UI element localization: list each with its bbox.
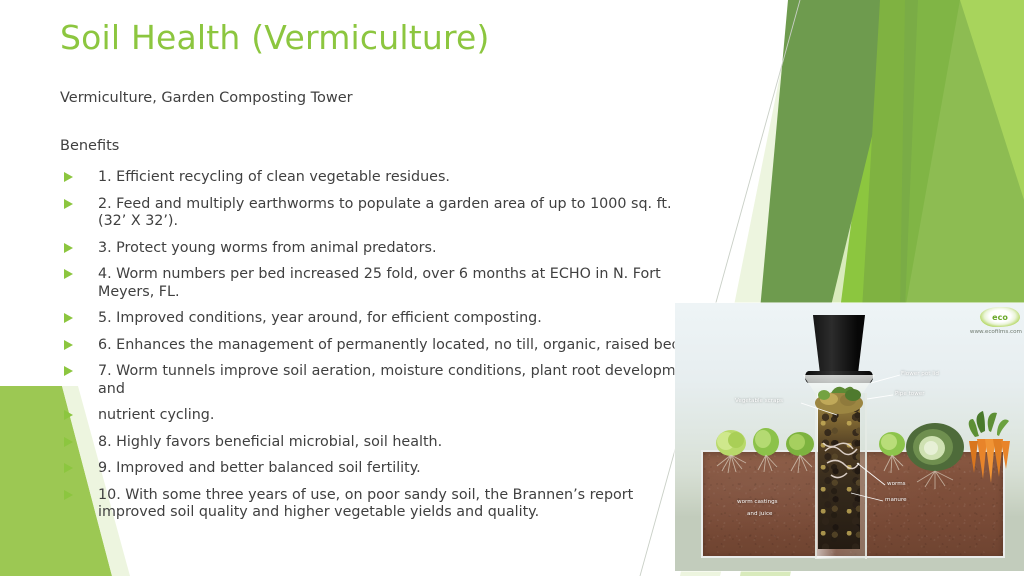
triangle-bullet-icon — [64, 340, 73, 350]
label-flower-pot-lid: Flower pot lid — [901, 371, 939, 378]
ribbon-shadow-green — [900, 0, 1024, 310]
ribbon-dark-green-2 — [862, 0, 918, 310]
list-item-text: 1. Efficient recycling of clean vegetabl… — [98, 169, 450, 185]
triangle-bullet-icon — [64, 199, 73, 209]
triangle-bullet-icon — [64, 172, 73, 182]
triangle-bullet-icon — [64, 463, 73, 473]
list-item: nutrient cycling. — [60, 407, 700, 425]
label-manure: manure — [885, 497, 907, 504]
list-item: 7. Worm tunnels improve soil aeration, m… — [60, 363, 700, 398]
benefits-list: 1. Efficient recycling of clean vegetabl… — [60, 169, 700, 522]
slide-body: Vermiculture, Garden Composting Tower Be… — [60, 88, 700, 531]
list-item-text: 5. Improved conditions, year around, for… — [98, 310, 542, 326]
list-item-text: nutrient cycling. — [98, 407, 214, 423]
composting-tower-image: Flower pot lid Pipe tower Vegetable scra… — [675, 303, 1024, 571]
ribbon-bright-green — [880, 0, 1024, 310]
eco-url: www.ecofilms.com — [970, 329, 1022, 335]
slide: Soil Health (Vermiculture) Vermiculture,… — [0, 0, 1024, 576]
list-item: 2. Feed and multiply earthworms to popul… — [60, 196, 700, 231]
label-worm-castings-2: and juice — [747, 511, 772, 518]
list-item-text: 4. Worm numbers per bed increased 25 fol… — [98, 266, 661, 300]
list-item-text: 3. Protect young worms from animal preda… — [98, 240, 437, 256]
list-item: 5. Improved conditions, year around, for… — [60, 310, 700, 328]
label-worms: worms — [887, 481, 906, 488]
label-pipe-tower: Pipe tower — [895, 391, 925, 398]
list-item: 4. Worm numbers per bed increased 25 fol… — [60, 266, 700, 301]
list-item: 9. Improved and better balanced soil fer… — [60, 460, 700, 478]
list-item-text: 2. Feed and multiply earthworms to popul… — [98, 196, 672, 230]
page-title: Soil Health (Vermiculture) — [60, 18, 700, 58]
triangle-bullet-icon — [64, 366, 73, 376]
list-item: 6. Enhances the management of permanentl… — [60, 337, 700, 355]
section-label: Benefits — [60, 136, 700, 156]
list-item: 8. Highly favors beneficial microbial, s… — [60, 434, 700, 452]
list-item: 3. Protect young worms from animal preda… — [60, 240, 700, 258]
list-item-text: 7. Worm tunnels improve soil aeration, m… — [98, 363, 699, 397]
list-item-text: 6. Enhances the management of permanentl… — [98, 337, 693, 353]
triangle-bullet-icon — [64, 269, 73, 279]
list-item-text: 10. With some three years of use, on poo… — [98, 487, 633, 521]
subtitle: Vermiculture, Garden Composting Tower — [60, 88, 700, 108]
worms-squiggles — [823, 443, 859, 478]
ribbon-dark-green — [760, 0, 905, 310]
eco-logo: eco — [980, 307, 1020, 327]
triangle-bullet-icon — [64, 490, 73, 500]
triangle-bullet-icon — [64, 313, 73, 323]
label-worm-castings: worm castings — [737, 499, 778, 506]
triangle-bullet-icon — [64, 437, 73, 447]
list-item-text: 9. Improved and better balanced soil fer… — [98, 460, 421, 476]
ribbon-mid-green — [840, 0, 960, 310]
list-item: 1. Efficient recycling of clean vegetabl… — [60, 169, 700, 187]
triangle-bullet-icon — [64, 410, 73, 420]
list-item-text: 8. Highly favors beneficial microbial, s… — [98, 434, 442, 450]
label-vegetable-scraps: Vegetable scraps — [735, 398, 783, 405]
triangle-bullet-icon — [64, 243, 73, 253]
list-item: 10. With some three years of use, on poo… — [60, 487, 700, 522]
